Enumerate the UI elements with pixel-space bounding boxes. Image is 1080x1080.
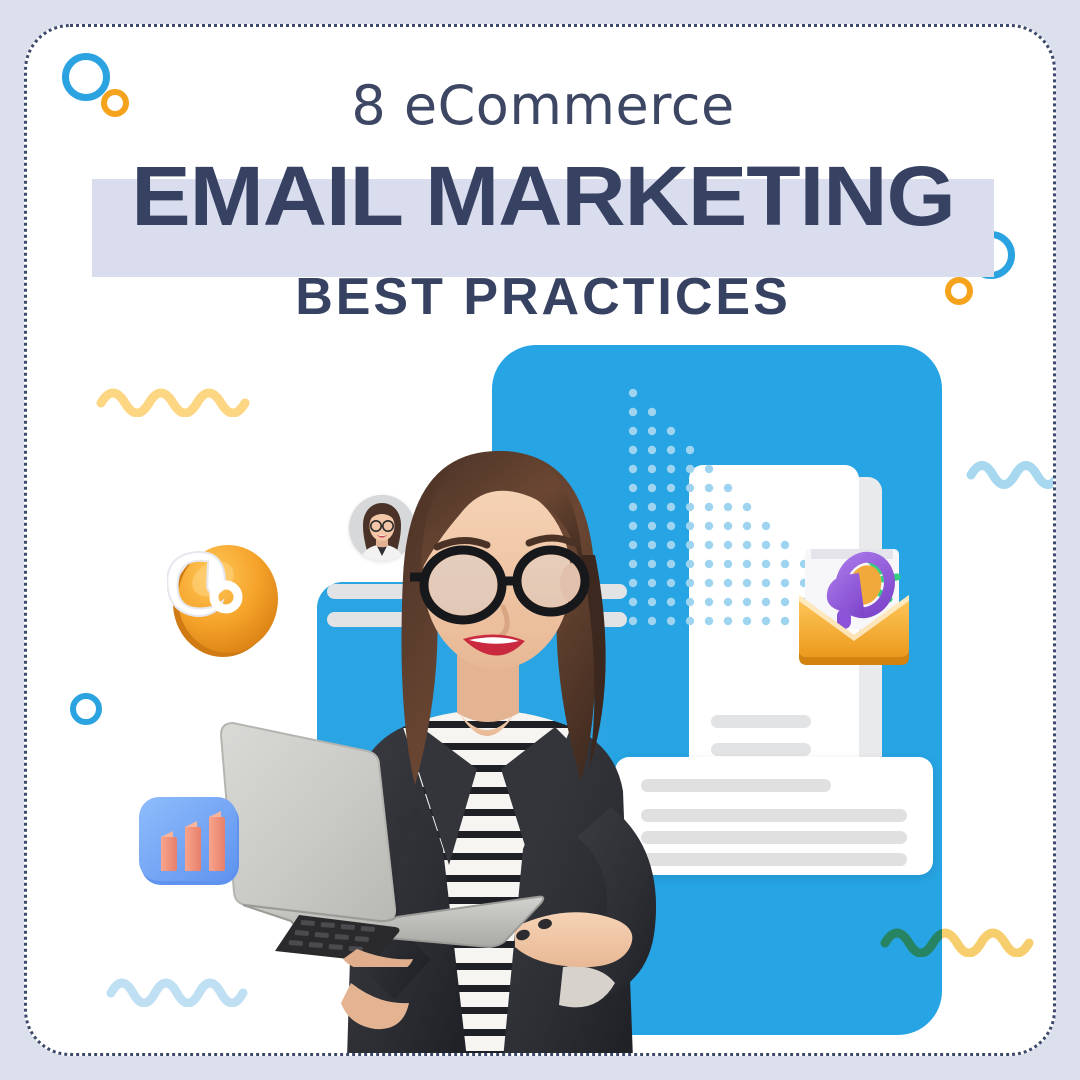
page-title: EMAIL MARKETING [24,147,1056,245]
poster-kicker: 8 eCommerce [27,79,1056,133]
envelope-megaphone-icon [789,525,919,676]
wave-bottom-right-decoration [879,917,1039,962]
at-sign-icon [167,537,289,668]
poster-canvas: 8 eCommerce EMAIL MARKETING BEST PRACTIC… [0,0,1080,1080]
poster-subtitle: BEST PRACTICES [27,271,1056,323]
headline-block: 8 eCommerce EMAIL MARKETING BEST PRACTIC… [27,79,1056,323]
bar-chart-icon [135,789,247,904]
wave-right-decoration [965,451,1056,496]
wave-top-left-decoration [95,377,255,422]
poster-card: 8 eCommerce EMAIL MARKETING BEST PRACTIC… [24,24,1056,1056]
wave-bottom-left-decoration [105,967,255,1012]
laptop-device [207,717,537,957]
